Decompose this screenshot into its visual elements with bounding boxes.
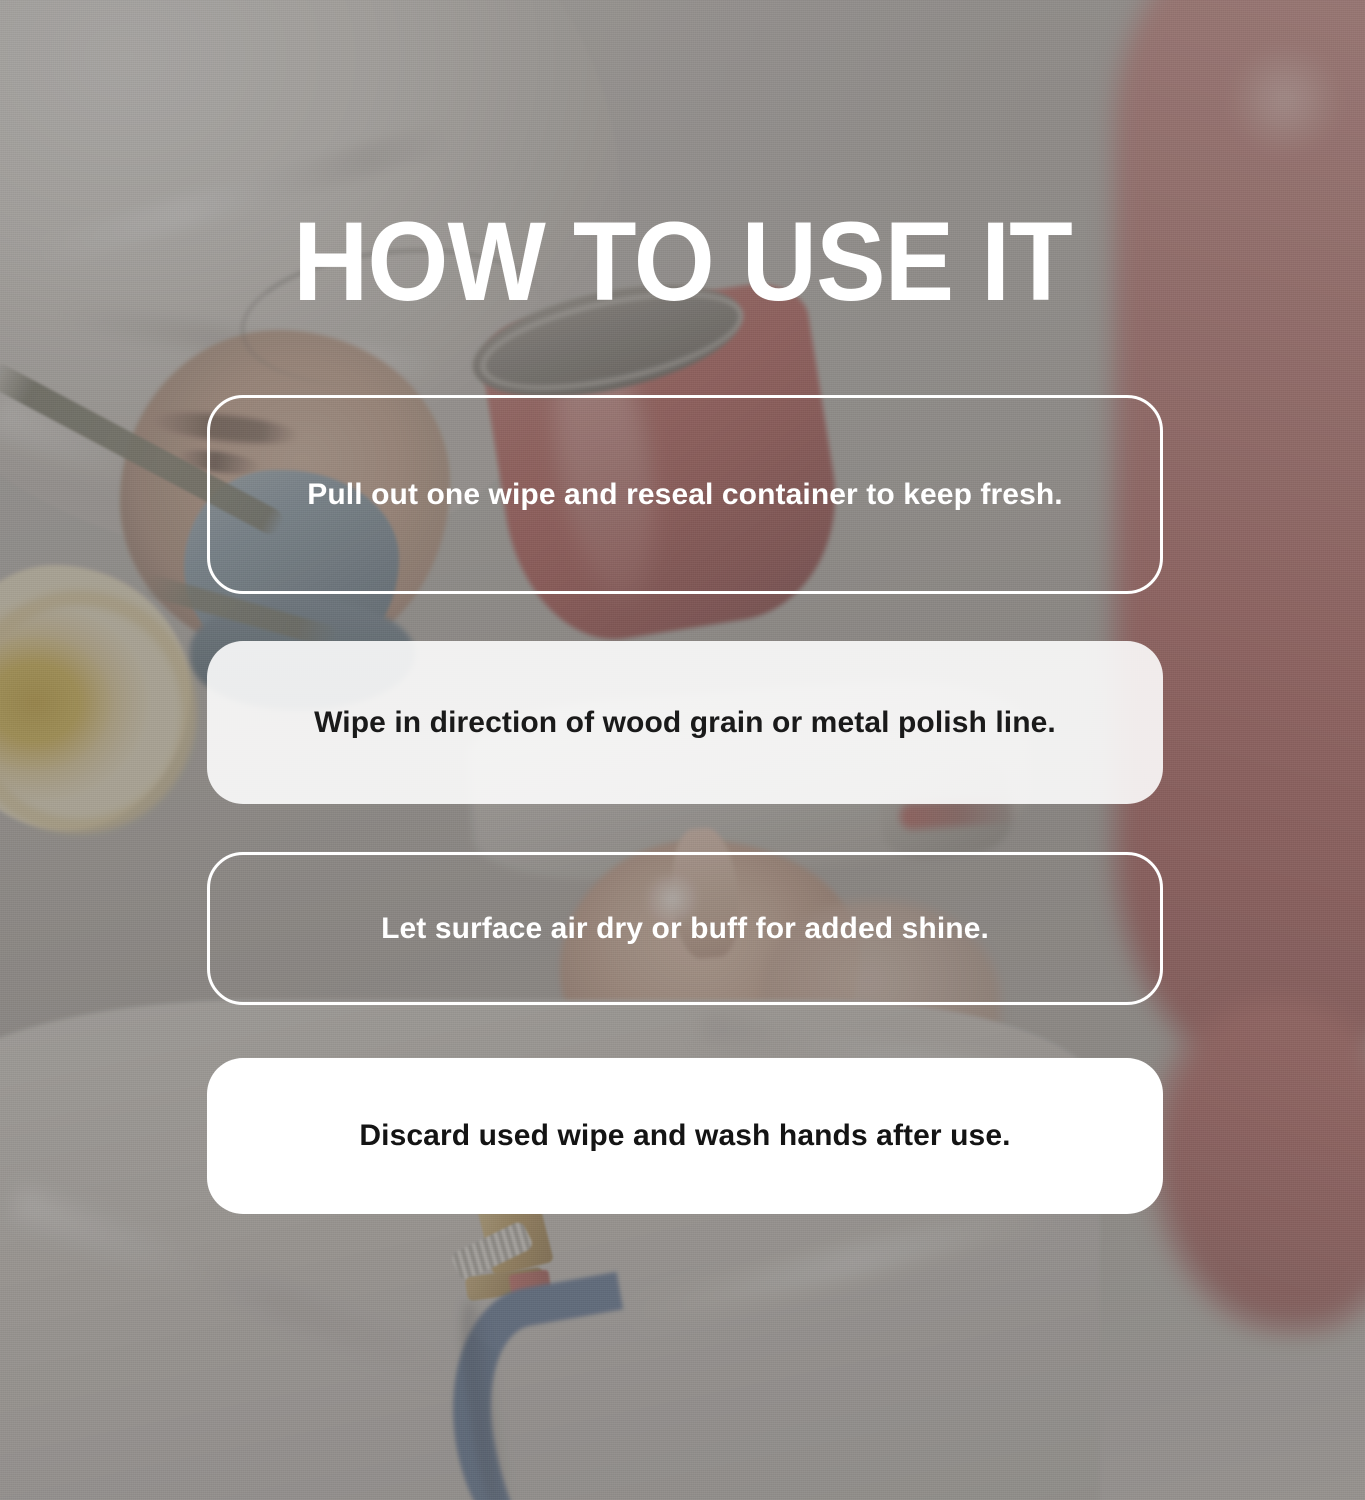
infographic-content: HOW TO USE IT Pull out one wipe and rese… [0,0,1365,1500]
infographic-canvas: HOW TO USE IT Pull out one wipe and rese… [0,0,1365,1500]
step-card-4: Discard used wipe and wash hands after u… [207,1058,1163,1214]
step-card-2-text: Wipe in direction of wood grain or metal… [314,703,1056,743]
step-card-1-text: Pull out one wipe and reseal container t… [307,475,1062,515]
step-card-1: Pull out one wipe and reseal container t… [207,395,1163,594]
page-title: HOW TO USE IT [48,206,1317,318]
step-card-4-text: Discard used wipe and wash hands after u… [359,1116,1010,1156]
step-card-3: Let surface air dry or buff for added sh… [207,852,1163,1005]
step-card-3-text: Let surface air dry or buff for added sh… [381,909,989,949]
step-card-2: Wipe in direction of wood grain or metal… [207,641,1163,804]
